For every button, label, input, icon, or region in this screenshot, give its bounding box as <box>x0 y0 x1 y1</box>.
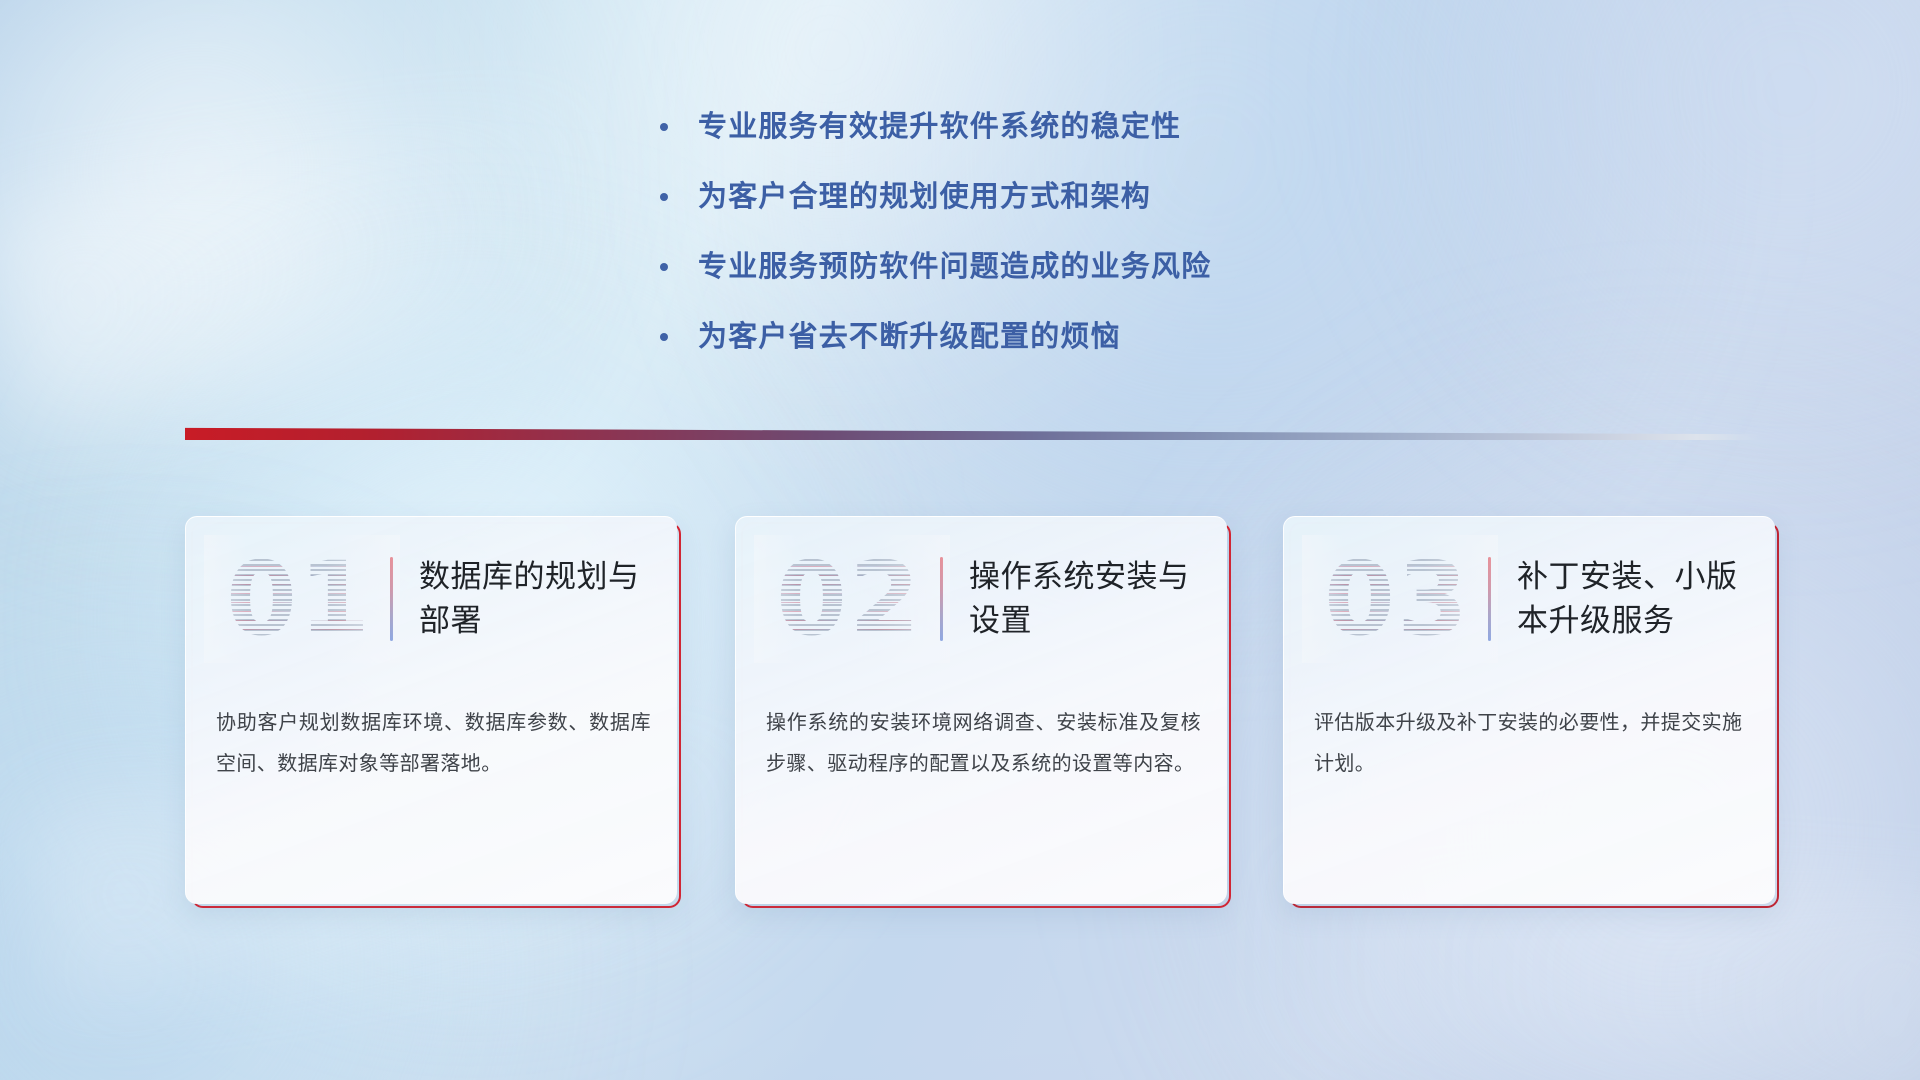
card-surface: 01 01 数据库的规划与部署 协助客户规划数据库环境、数据库参数、数据库空间、… <box>185 516 677 904</box>
card-title: 补丁安装、小版本升级服务 <box>1517 555 1749 643</box>
list-item: 为客户合理的规划使用方式和架构 <box>660 175 1480 219</box>
list-item: 为客户省去不断升级配置的烦恼 <box>660 315 1480 359</box>
card-header: 01 01 数据库的规划与部署 <box>186 517 677 681</box>
card-title: 数据库的规划与部署 <box>419 555 651 643</box>
list-item: 专业服务有效提升软件系统的稳定性 <box>660 105 1480 149</box>
divider-gradient-bar <box>185 424 1760 440</box>
card-title-accent-bar <box>1488 557 1491 641</box>
card-surface: 02 02 操作系统安装与设置 操作系统的安装环境网络调查、安装标准及复核步骤、… <box>735 516 1227 904</box>
bullet-dot-icon <box>660 333 668 341</box>
bullet-dot-icon <box>660 123 668 131</box>
bullet-text: 专业服务预防软件问题造成的业务风险 <box>698 245 1211 289</box>
service-card-row: 01 01 数据库的规划与部署 协助客户规划数据库环境、数据库参数、数据库空间、… <box>0 516 1920 926</box>
card-description: 协助客户规划数据库环境、数据库参数、数据库空间、数据库对象等部署落地。 <box>216 703 651 785</box>
bullet-text: 为客户省去不断升级配置的烦恼 <box>698 315 1121 359</box>
bullet-dot-icon <box>660 263 668 271</box>
card-number-watermark: 03 03 <box>1306 539 1488 659</box>
card-number-color-streaks: 03 <box>1306 539 1488 659</box>
card-description: 评估版本升级及补丁安装的必要性，并提交实施计划。 <box>1314 703 1749 785</box>
card-title-accent-bar <box>390 557 393 641</box>
list-item: 专业服务预防软件问题造成的业务风险 <box>660 245 1480 289</box>
card-number-watermark: 01 01 <box>208 539 390 659</box>
card-header: 03 03 补丁安装、小版本升级服务 <box>1284 517 1775 681</box>
service-card[interactable]: 01 01 数据库的规划与部署 协助客户规划数据库环境、数据库参数、数据库空间、… <box>185 516 677 904</box>
service-card[interactable]: 02 02 操作系统安装与设置 操作系统的安装环境网络调查、安装标准及复核步骤、… <box>735 516 1227 904</box>
card-number-color-streaks: 02 <box>758 539 940 659</box>
card-surface: 03 03 补丁安装、小版本升级服务 评估版本升级及补丁安装的必要性，并提交实施… <box>1283 516 1775 904</box>
section-divider <box>185 424 1760 440</box>
card-title-accent-bar <box>940 557 943 641</box>
bullet-dot-icon <box>660 193 668 201</box>
bullet-text: 专业服务有效提升软件系统的稳定性 <box>698 105 1181 149</box>
card-description: 操作系统的安装环境网络调查、安装标准及复核步骤、驱动程序的配置以及系统的设置等内… <box>766 703 1201 785</box>
card-header: 02 02 操作系统安装与设置 <box>736 517 1227 681</box>
benefits-bullet-list: 专业服务有效提升软件系统的稳定性 为客户合理的规划使用方式和架构 专业服务预防软… <box>660 105 1480 385</box>
bullet-text: 为客户合理的规划使用方式和架构 <box>698 175 1151 219</box>
card-number-color-streaks: 01 <box>208 539 390 659</box>
service-card[interactable]: 03 03 补丁安装、小版本升级服务 评估版本升级及补丁安装的必要性，并提交实施… <box>1283 516 1775 904</box>
card-title: 操作系统安装与设置 <box>969 555 1201 643</box>
card-number-watermark: 02 02 <box>758 539 940 659</box>
